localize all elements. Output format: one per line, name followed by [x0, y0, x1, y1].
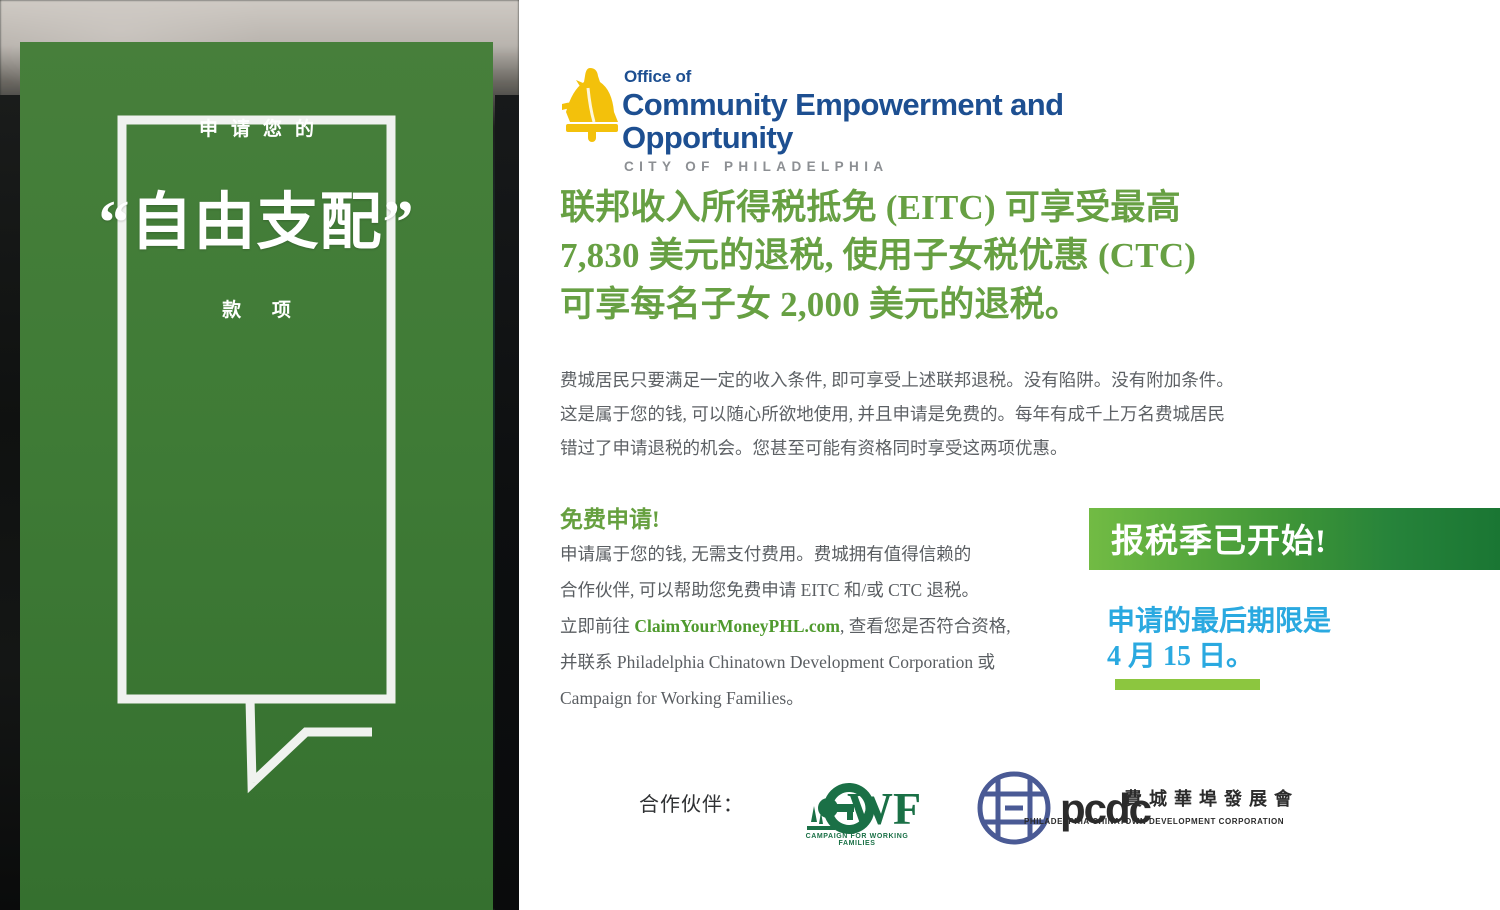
headline-line-3: 可享每名子女 2,000 美元的退税。	[560, 281, 1280, 329]
headline-line-1: 联邦收入所得税抵免 (EITC) 可享受最高	[560, 184, 1280, 232]
logo-office-line: Office of	[624, 68, 1200, 85]
paragraph-line-2: 这是属于您的钱, 可以随心所欲地使用, 并且申请是免费的。每年有成千上万名费城居…	[560, 397, 1290, 431]
poster-root: 申请您的 “自由支配” 款 项 Office of Community Empo…	[0, 0, 1500, 910]
deadline-line-2: 4 月 15 日。	[1107, 639, 1467, 674]
svg-text:WF: WF	[847, 783, 921, 834]
tax-season-banner: 报税季已开始!	[1089, 508, 1500, 570]
liberty-bell-icon	[560, 64, 622, 142]
claim-url-link[interactable]: ClaimYourMoneyPHL.com	[634, 616, 840, 636]
paragraph-line-3: 错过了申请退税的机会。您甚至可能有资格同时享受这两项优惠。	[560, 431, 1290, 465]
partners-label: 合作伙伴：	[639, 788, 744, 817]
left-photo-panel: 申请您的 “自由支配” 款 项	[0, 0, 519, 910]
free-apply-line-2: 合作伙伴, 可以帮助您免费申请 EITC 和/或 CTC 退税。	[560, 573, 1120, 609]
right-content-panel: Office of Community Empowerment and Oppo…	[519, 0, 1500, 910]
free-apply-body: 申请属于您的钱, 无需支付费用。费城拥有值得信赖的 合作伙伴, 可以帮助您免费申…	[560, 537, 1120, 716]
free-apply-line-5: Campaign for Working Families。	[560, 681, 1120, 717]
deadline-block: 申请的最后期限是 4 月 15 日。	[1107, 604, 1467, 674]
pcdc-chinese-name: 費城華埠發展會	[1124, 785, 1299, 811]
left-subkicker: 款 项	[20, 295, 493, 322]
logo-name-line: Community Empowerment and Opportunity	[622, 88, 1200, 155]
body-paragraph: 费城居民只要满足一定的收入条件, 即可享受上述联邦退税。没有陷阱。没有附加条件。…	[560, 363, 1290, 465]
free-apply-line-3: 立即前往 ClaimYourMoneyPHL.com, 查看您是否符合资格,	[560, 609, 1120, 645]
free-apply-line-1: 申请属于您的钱, 无需支付费用。费城拥有值得信赖的	[560, 537, 1120, 573]
green-headline-card: 申请您的 “自由支配” 款 项	[20, 42, 493, 910]
free-apply-line-4: 并联系 Philadelphia Chinatown Development C…	[560, 645, 1120, 681]
paragraph-line-1: 费城居民只要满足一定的收入条件, 即可享受上述联邦退税。没有陷阱。没有附加条件。	[560, 363, 1290, 397]
left-kicker: 申请您的	[20, 114, 493, 141]
cwf-caption: CAMPAIGN FOR WORKING FAMILIES	[787, 833, 927, 847]
pcdc-caption: PHILADELPHIA CHINATOWN DEVELOPMENT CORPO…	[1024, 817, 1284, 826]
tax-season-banner-text: 报税季已开始!	[1111, 514, 1327, 562]
logo-textblock: Office of Community Empowerment and Oppo…	[622, 62, 1200, 174]
free-apply-title: 免费申请!	[560, 500, 660, 534]
green-card-gradient	[20, 42, 493, 910]
deadline-underline-rule	[1115, 679, 1260, 690]
free-apply-line-3-post: , 查看您是否符合资格,	[840, 616, 1011, 636]
ceo-logo: Office of Community Empowerment and Oppo…	[560, 62, 1200, 152]
headline-line-2: 7,830 美元的退税, 使用子女税优惠 (CTC)	[560, 232, 1280, 280]
deadline-line-1: 申请的最后期限是	[1107, 604, 1467, 639]
left-headline: “自由支配”	[20, 192, 493, 254]
main-headline: 联邦收入所得税抵免 (EITC) 可享受最高 7,830 美元的退税, 使用子女…	[560, 184, 1280, 329]
free-apply-line-3-pre: 立即前往	[560, 616, 634, 636]
logo-city-line: CITY OF PHILADELPHIA	[624, 159, 1200, 174]
